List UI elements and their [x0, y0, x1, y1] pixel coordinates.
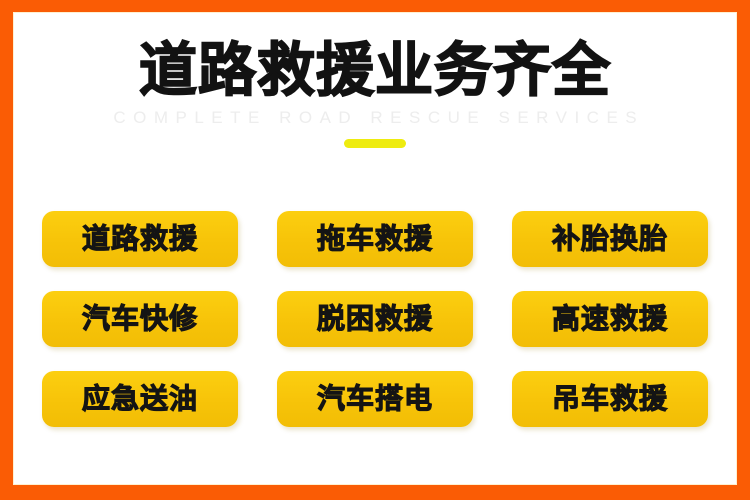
- poster-root: 道路救援业务齐全 COMPLETE ROAD RESCUE SERVICES 道…: [0, 0, 750, 500]
- service-button-label: 应急送油: [82, 385, 198, 413]
- service-button-extrication-rescue[interactable]: 脱困救援: [277, 291, 473, 347]
- accent-divider: [344, 139, 406, 148]
- service-button-jump-start[interactable]: 汽车搭电: [277, 371, 473, 427]
- service-button-label: 拖车救援: [317, 225, 433, 253]
- service-button-label: 吊车救援: [552, 385, 668, 413]
- service-button-label: 汽车搭电: [317, 385, 433, 413]
- service-button-label: 汽车快修: [82, 305, 198, 333]
- service-button-label: 道路救援: [82, 225, 198, 253]
- service-button-emergency-fuel-delivery[interactable]: 应急送油: [42, 371, 238, 427]
- poster-card: 道路救援业务齐全 COMPLETE ROAD RESCUE SERVICES 道…: [13, 12, 737, 485]
- page-subtitle: COMPLETE ROAD RESCUE SERVICES: [13, 108, 737, 128]
- service-button-quick-car-repair[interactable]: 汽车快修: [42, 291, 238, 347]
- poster-header: 道路救援业务齐全 COMPLETE ROAD RESCUE SERVICES: [13, 12, 737, 148]
- service-button-towing-rescue[interactable]: 拖车救援: [277, 211, 473, 267]
- page-title: 道路救援业务齐全: [13, 40, 737, 101]
- service-button-road-rescue[interactable]: 道路救援: [42, 211, 238, 267]
- service-button-label: 补胎换胎: [552, 225, 668, 253]
- service-button-highway-rescue[interactable]: 高速救援: [512, 291, 708, 347]
- service-button-label: 脱困救援: [317, 305, 433, 333]
- service-grid: 道路救援 拖车救援 补胎换胎 汽车快修 脱困救援 高速救援 应急送油 汽车搭电: [42, 211, 708, 427]
- service-button-tire-repair-replace[interactable]: 补胎换胎: [512, 211, 708, 267]
- service-button-label: 高速救援: [552, 305, 668, 333]
- service-button-crane-rescue[interactable]: 吊车救援: [512, 371, 708, 427]
